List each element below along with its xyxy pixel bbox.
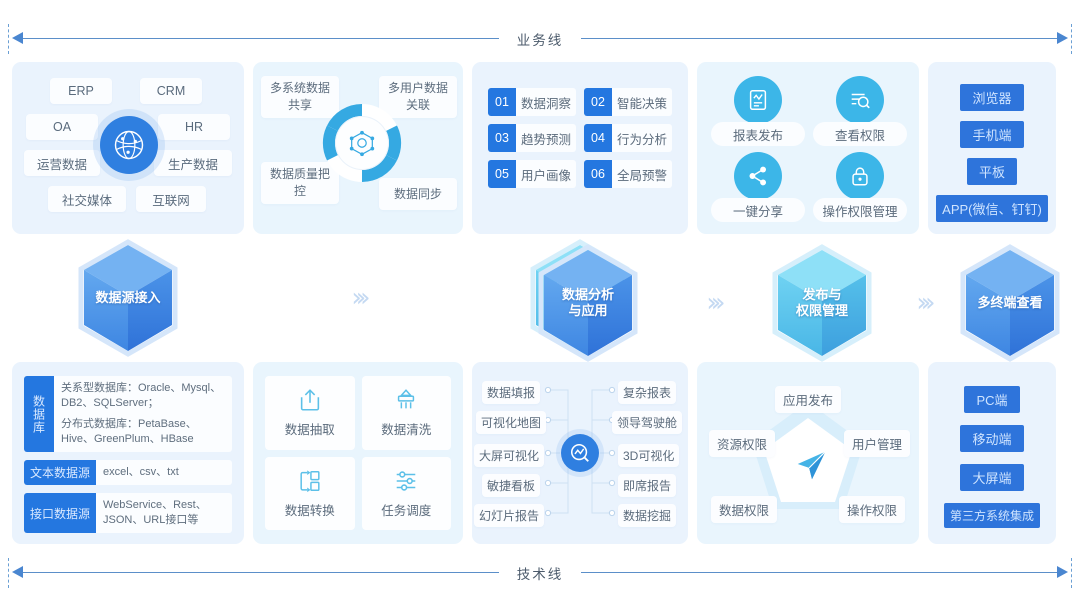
panel-data-sources: ERP CRM OA HR 运营数据 生产数据 社交媒体 互联网 [12, 62, 244, 234]
db-row-api-source[interactable]: 接口数据源 WebService、Rest、JSON、URL接口等 [24, 493, 232, 533]
data-node-icon [335, 116, 389, 170]
permission-label-resource[interactable]: 资源权限 [709, 430, 775, 457]
terminal-tag-mobile[interactable]: 手机端 [960, 121, 1023, 148]
chevron-right-icon: ››› [916, 288, 929, 318]
panel-data-analysis: 01 数据洞察 02 智能决策 03 趋势预测 04 行为分析 [472, 62, 688, 234]
source-chip-hr[interactable]: HR [158, 114, 230, 140]
analysis-label-04: 行为分析 [612, 124, 672, 152]
processing-item-schedule[interactable]: 任务调度 [362, 457, 452, 531]
processing-label-clean: 数据清洗 [381, 419, 431, 438]
business-row: ERP CRM OA HR 运营数据 生产数据 社交媒体 互联网 [12, 62, 1068, 234]
arrow-left-icon [12, 566, 23, 578]
tech-line-label: 技术线 [499, 563, 582, 583]
arrow-right-icon [1057, 566, 1068, 578]
analysis-item-06[interactable]: 06 全局预警 [584, 160, 672, 188]
permission-label-operation[interactable]: 操作权限 [839, 496, 905, 523]
panel-publish-permission: 报表发布 查看权限 [697, 62, 919, 234]
axis-line-left [22, 572, 504, 573]
integration-donut-chart [319, 100, 405, 186]
publish-label-operation-permission: 操作权限管理 [813, 198, 907, 222]
viz-label-slides[interactable]: 幻灯片报告 [474, 504, 544, 527]
analysis-label-02: 智能决策 [612, 88, 672, 116]
analysis-number-04: 04 [584, 124, 612, 152]
panel-data-integration: 多系统数据共享 多用户数据关联 数据质量把控 数据同步 [253, 62, 463, 234]
viz-label-data-entry[interactable]: 数据填报 [482, 381, 540, 404]
db-tag-database: 数据库 [24, 376, 54, 452]
axis-dash-right [1071, 558, 1072, 588]
analysis-label-01: 数据洞察 [516, 88, 576, 116]
arrow-right-icon [1057, 32, 1068, 44]
analysis-item-grid: 01 数据洞察 02 智能决策 03 趋势预测 04 行为分析 [488, 88, 672, 188]
publish-item-report[interactable]: 报表发布 [711, 76, 805, 146]
flow-separator-3: ››› [688, 288, 738, 318]
flow-separator-4: ››› [898, 288, 948, 318]
axis-dash-right [1071, 24, 1072, 54]
analysis-item-05[interactable]: 05 用户画像 [488, 160, 576, 188]
db-text-api-source: WebService、Rest、JSON、URL接口等 [96, 493, 232, 533]
panel-database-sources: 数据库 关系型数据库：Oracle、Mysql、DB2、SQLServer； 分… [12, 362, 244, 544]
processing-grid: 数据抽取 数据清洗 [265, 376, 451, 530]
publish-icon-grid: 报表发布 查看权限 [711, 76, 907, 222]
analysis-item-02[interactable]: 02 智能决策 [584, 88, 672, 116]
panel-clients: PC端 移动端 大屏端 第三方系统集成 [928, 362, 1056, 544]
analysis-label-05: 用户画像 [516, 160, 576, 188]
source-chip-ops[interactable]: 运营数据 [24, 150, 100, 176]
viz-label-bigscreen[interactable]: 大屏可视化 [474, 444, 544, 467]
source-chip-erp[interactable]: ERP [50, 78, 112, 104]
axis-line-right [576, 38, 1058, 39]
search-list-icon [836, 76, 884, 124]
processing-label-schedule: 任务调度 [381, 500, 431, 519]
db-row-text-source[interactable]: 文本数据源 excel、csv、txt [24, 460, 232, 485]
flow-separator-1: ››› [253, 283, 463, 313]
upload-box-icon [297, 387, 323, 413]
report-document-icon [734, 76, 782, 124]
viz-label-3d[interactable]: 3D可视化 [618, 444, 679, 467]
publish-label-view-permission: 查看权限 [813, 122, 907, 146]
analysis-number-03: 03 [488, 124, 516, 152]
db-tag-text-source: 文本数据源 [24, 460, 96, 485]
terminal-tag-browser[interactable]: 浏览器 [960, 84, 1023, 111]
permission-label-app-publish[interactable]: 应用发布 [775, 386, 841, 413]
processing-label-extract: 数据抽取 [285, 419, 335, 438]
client-tag-third-party[interactable]: 第三方系统集成 [944, 503, 1040, 528]
panel-visualization: 数据填报 可视化地图 大屏可视化 敏捷看板 幻灯片报告 复杂报表 领导驾驶舱 3… [472, 362, 688, 544]
client-tag-pc[interactable]: PC端 [964, 386, 1019, 413]
chevron-right-icon: ››› [706, 288, 719, 318]
analytics-search-icon [561, 434, 599, 472]
db-text-distributed: 分布式数据库：PetaBase、Hive、GreenPlum、HBase [61, 417, 225, 447]
viz-label-mining[interactable]: 数据挖掘 [618, 504, 676, 527]
axis-line-left [22, 38, 504, 39]
terminal-tag-app[interactable]: APP(微信、钉钉) [936, 195, 1048, 222]
viz-label-cockpit[interactable]: 领导驾驶舱 [612, 411, 682, 434]
tech-row: 数据库 关系型数据库：Oracle、Mysql、DB2、SQLServer； 分… [12, 362, 1068, 544]
flow-step-5[interactable]: 多终端查看 [950, 244, 1070, 366]
flow-step-1[interactable]: 数据源接入 [12, 239, 244, 357]
source-chip-social[interactable]: 社交媒体 [48, 186, 126, 212]
client-tag-bigscreen[interactable]: 大屏端 [960, 464, 1023, 491]
publish-item-share[interactable]: 一键分享 [711, 152, 805, 222]
analysis-item-01[interactable]: 01 数据洞察 [488, 88, 576, 116]
publish-label-report: 报表发布 [711, 122, 805, 146]
db-text-relational: 关系型数据库：Oracle、Mysql、DB2、SQLServer； [61, 381, 225, 411]
source-chip-prod[interactable]: 生产数据 [154, 150, 232, 176]
terminal-tag-tablet[interactable]: 平板 [967, 158, 1017, 185]
permission-label-user-mgmt[interactable]: 用户管理 [844, 430, 910, 457]
publish-label-share: 一键分享 [711, 198, 805, 222]
client-tag-list: PC端 移动端 大屏端 第三方系统集成 [928, 386, 1056, 528]
db-text-text-source: excel、csv、txt [96, 460, 186, 485]
analysis-number-02: 02 [584, 88, 612, 116]
analysis-label-06: 全局预警 [612, 160, 672, 188]
panel-data-processing: 数据抽取 数据清洗 [253, 362, 463, 544]
source-chip-oa[interactable]: OA [26, 114, 98, 140]
analysis-item-04[interactable]: 04 行为分析 [584, 124, 672, 152]
panel-permission-management: 应用发布 资源权限 用户管理 数据权限 操作权限 [697, 362, 919, 544]
analysis-number-06: 06 [584, 160, 612, 188]
viz-label-dashboard[interactable]: 敏捷看板 [482, 474, 540, 497]
processing-item-transform[interactable]: 数据转换 [265, 457, 355, 531]
processing-item-extract[interactable]: 数据抽取 [265, 376, 355, 450]
source-chip-crm[interactable]: CRM [140, 78, 202, 104]
globe-network-icon [100, 116, 158, 174]
business-line-axis: 业务线 [0, 22, 1080, 56]
integration-label-bottom-right-text: 数据同步 [394, 187, 442, 201]
broom-clean-icon [393, 387, 419, 413]
arrow-left-icon [12, 32, 23, 44]
axis-dash-left [8, 24, 9, 54]
db-tag-api-source: 接口数据源 [24, 493, 96, 533]
share-nodes-icon [734, 152, 782, 200]
db-text-database: 关系型数据库：Oracle、Mysql、DB2、SQLServer； 分布式数据… [54, 376, 232, 452]
analysis-item-03[interactable]: 03 趋势预测 [488, 124, 576, 152]
axis-dash-left [8, 558, 9, 588]
flow-step-3[interactable]: 数据分析 与应用 [528, 244, 648, 366]
axis-line-right [576, 572, 1058, 573]
business-line-label: 业务线 [499, 29, 582, 49]
viz-label-map[interactable]: 可视化地图 [476, 411, 546, 434]
paper-plane-icon [793, 446, 831, 489]
processing-label-transform: 数据转换 [285, 500, 335, 519]
publish-item-view-permission[interactable]: 查看权限 [813, 76, 907, 146]
chevron-right-icon: ››› [351, 283, 364, 313]
processing-item-clean[interactable]: 数据清洗 [362, 376, 452, 450]
viz-label-adhoc[interactable]: 即席报告 [618, 474, 676, 497]
client-tag-mobile[interactable]: 移动端 [960, 425, 1023, 452]
source-chip-internet[interactable]: 互联网 [136, 186, 206, 212]
analysis-number-01: 01 [488, 88, 516, 116]
viz-label-complex-report[interactable]: 复杂报表 [618, 381, 676, 404]
panel-terminals: 浏览器 手机端 平板 APP(微信、钉钉) [928, 62, 1056, 234]
lock-icon [836, 152, 884, 200]
sliders-settings-icon [393, 468, 419, 494]
analysis-label-03: 趋势预测 [516, 124, 576, 152]
terminal-tag-list: 浏览器 手机端 平板 APP(微信、钉钉) [928, 84, 1056, 222]
publish-item-operation-permission[interactable]: 操作权限管理 [813, 152, 907, 222]
db-row-database[interactable]: 数据库 关系型数据库：Oracle、Mysql、DB2、SQLServer； 分… [24, 376, 232, 452]
permission-label-data[interactable]: 数据权限 [711, 496, 777, 523]
transform-swap-icon [297, 468, 323, 494]
tech-line-axis: 技术线 [0, 556, 1080, 590]
flow-step-4[interactable]: 发布与 权限管理 [762, 244, 882, 366]
analysis-number-05: 05 [488, 160, 516, 188]
